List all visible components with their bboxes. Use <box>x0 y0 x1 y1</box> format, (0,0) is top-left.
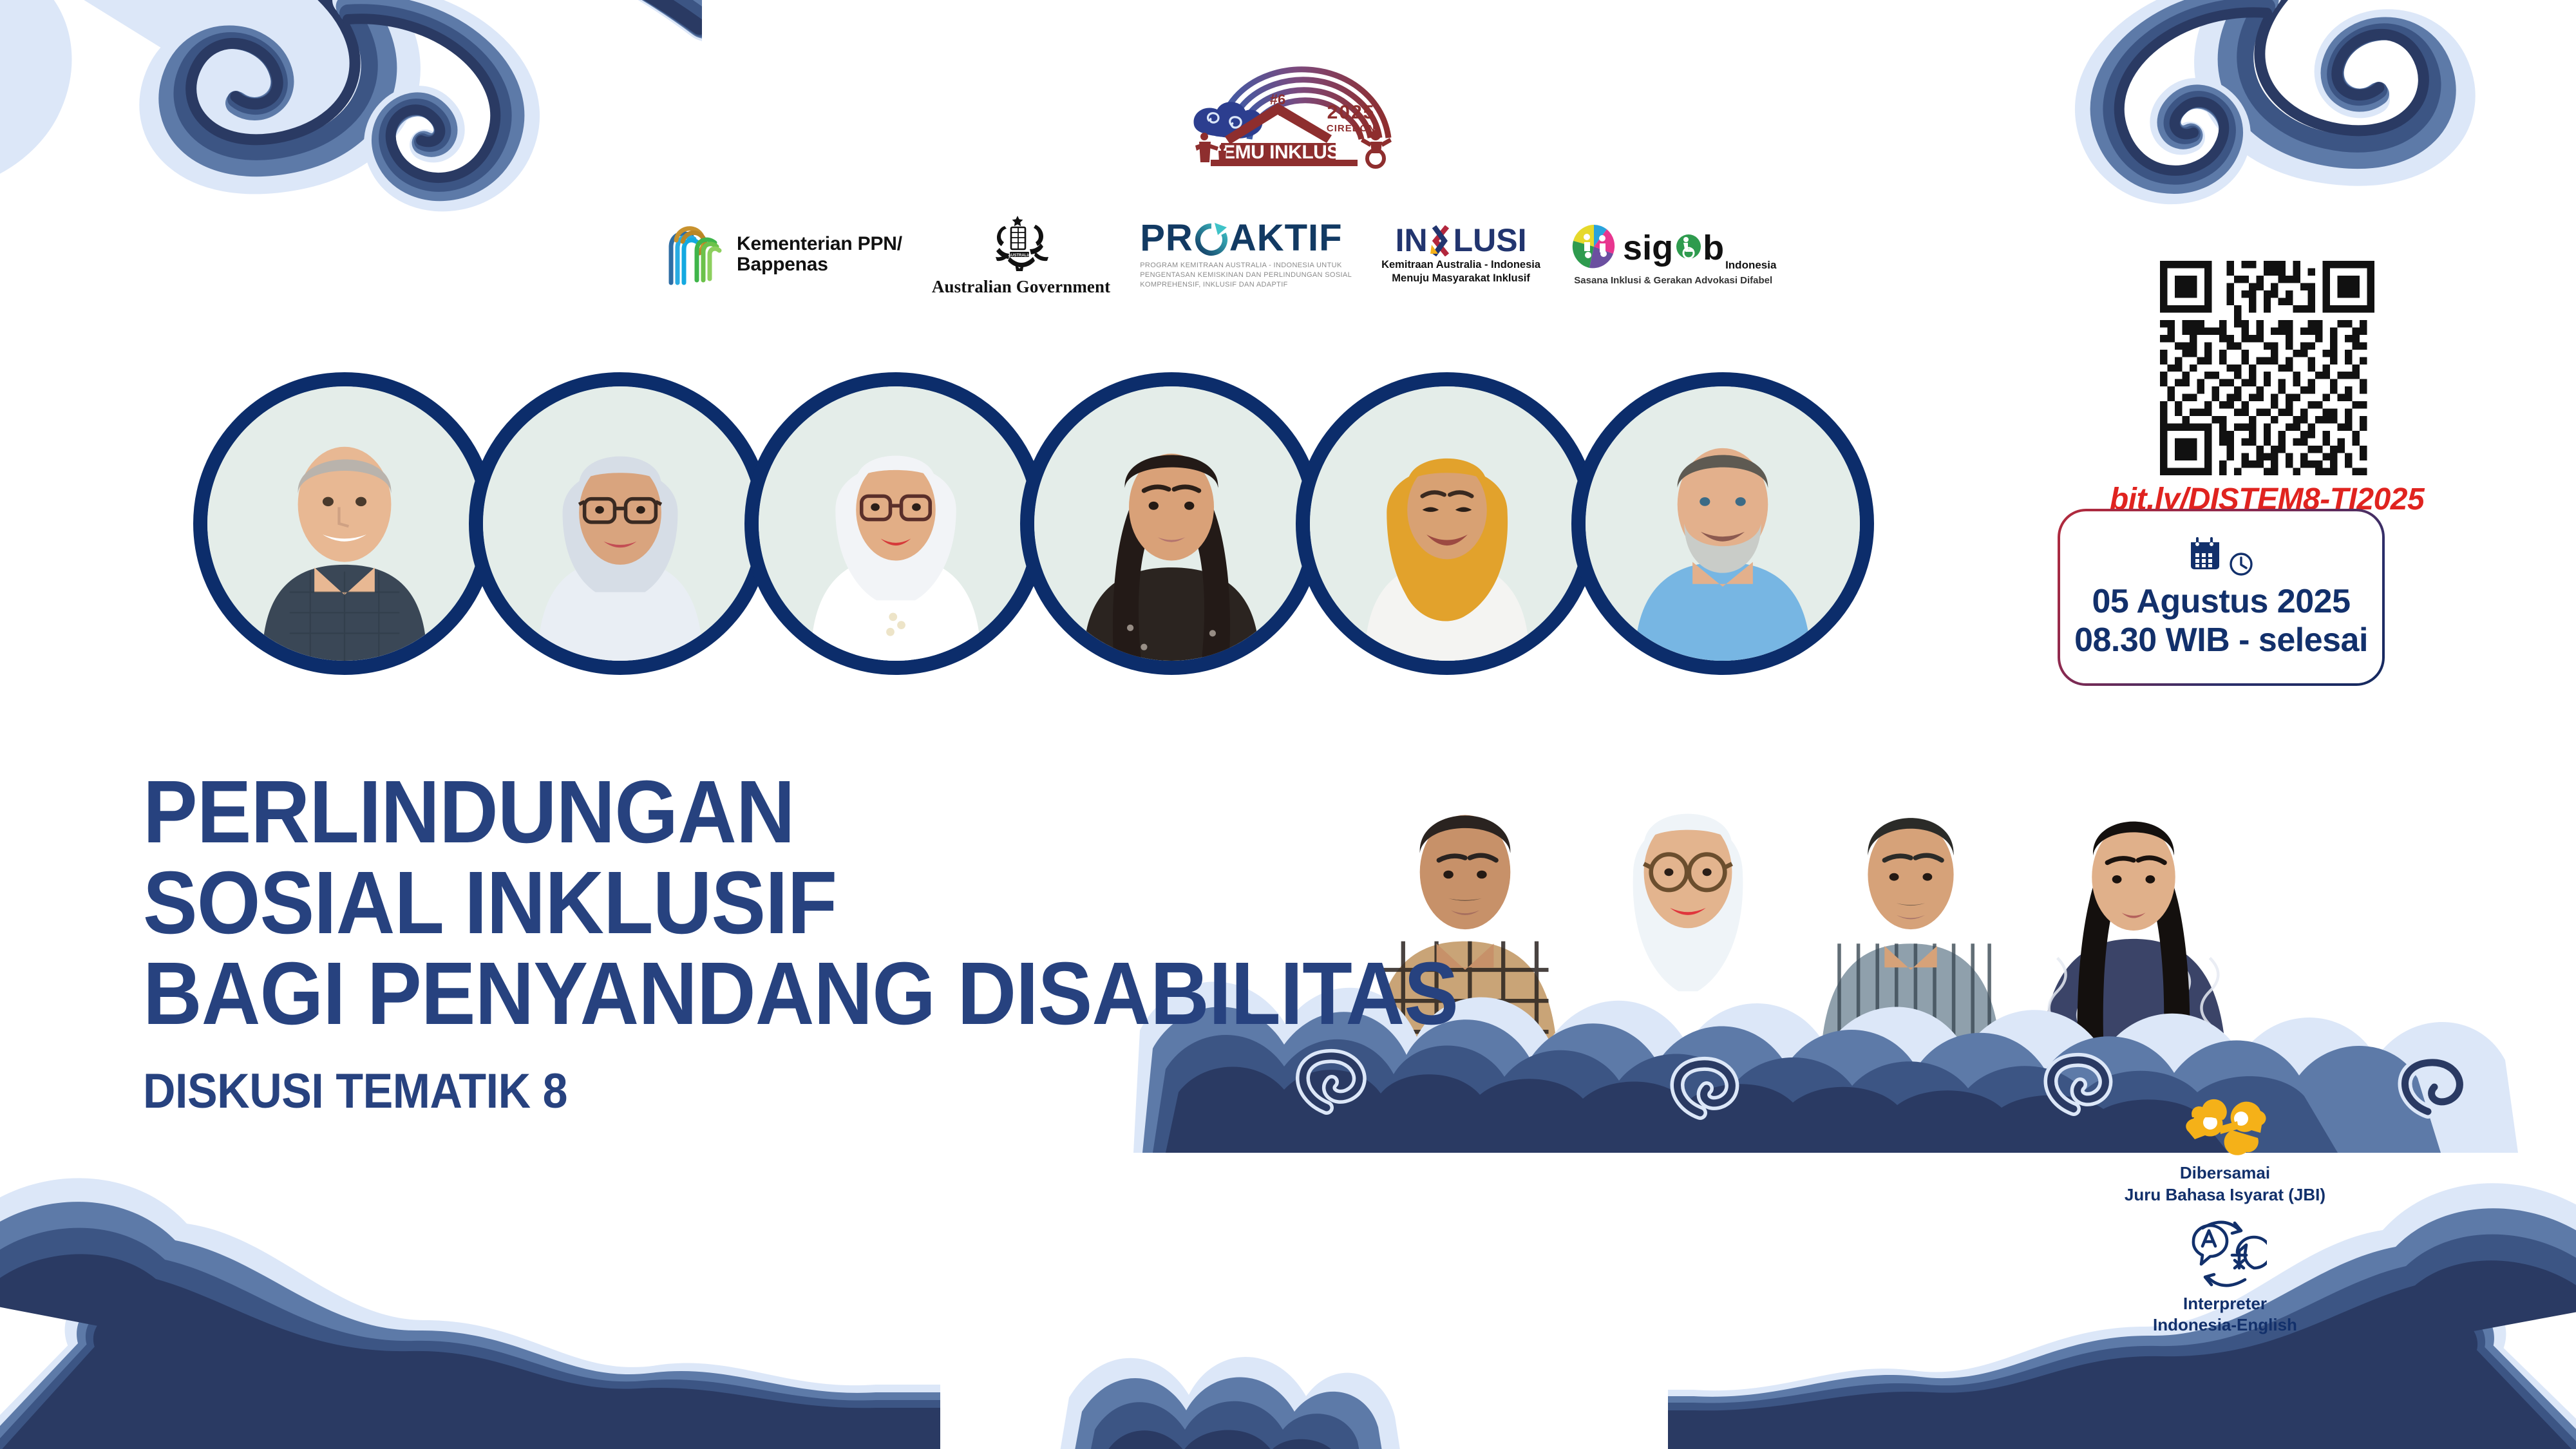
speaker-portrait-6 <box>1571 372 1874 675</box>
partner-logo-australian-government: AUSTRALIA Australian Government <box>932 212 1110 297</box>
partner-logo-sigab: sig b Indonesia Sasana Inklusi & Gerakan… <box>1570 223 1776 286</box>
interpreter-caption: Interpreter Indonesia-English <box>2153 1293 2297 1337</box>
calendar-icon <box>2187 536 2226 578</box>
headline-block: PERLINDUNGAN SOSIAL INKLUSIF BAGI PENYAN… <box>143 772 2011 1119</box>
australian-coat-of-arms-icon: AUSTRALIA <box>985 212 1057 276</box>
temu-inklusi-wordmark: TEMU INKLUSI <box>1211 142 1344 163</box>
inklusi-word-in: IN <box>1396 224 1428 256</box>
speaker-portrait-10 <box>2014 718 2253 1079</box>
speaker-portrait-1 <box>193 372 496 675</box>
schedule-box: 05 Agustus 2025 08.30 WIB - selesai <box>2058 509 2385 686</box>
partner-logo-proaktif: PR AKTIF PROGRAM KEMITRAAN AUSTRALIA - I… <box>1140 219 1352 290</box>
inklusi-word-lusi: LUSI <box>1454 224 1527 256</box>
poster-root: TEMU INKLUSI #6 2025 CIREBON <box>0 0 2576 1449</box>
temu-inklusi-logo: TEMU INKLUSI #6 2025 CIREBON <box>1182 40 1427 182</box>
partner-logo-inklusi: IN LUSI Kemitraan Australia - Indonesia … <box>1381 224 1540 285</box>
proaktif-word-aktif: AKTIF <box>1229 220 1343 257</box>
speaker-portrait-2 <box>469 372 772 675</box>
sigab-wordmark: sig b <box>1623 232 1724 265</box>
accessibility-block: Dibersamai Juru Bahasa Isyarat (JBI) Int… <box>2045 1092 2405 1336</box>
translate-speech-bubbles-icon <box>2183 1213 2267 1293</box>
mega-mendung-wave-bottom-left <box>0 1108 940 1449</box>
inklusi-logomark-icon <box>1428 224 1454 256</box>
speaker-circle-row <box>193 372 1847 675</box>
headline-subtitle: DISKUSI TEMATIK 8 <box>143 1063 1861 1119</box>
proaktif-wordmark: PR AKTIF <box>1140 219 1342 258</box>
sigab-wheelchair-icon <box>1673 232 1703 265</box>
speaker-portrait-4 <box>1020 372 1323 675</box>
partner-logo-bappenas: Kementerian PPN/ Bappenas <box>657 218 902 291</box>
mega-mendung-wave-bottom-center <box>824 1204 1790 1449</box>
qr-block[interactable]: bit.ly/DISTEM8-TI2025 <box>2125 261 2409 517</box>
bappenas-name: Kementerian PPN/ Bappenas <box>737 234 902 276</box>
headline-line-3: BAGI PENYANDANG DISABILITAS <box>143 953 1861 1035</box>
sigab-word-b: b <box>1703 232 1724 265</box>
partner-logo-row: Kementerian PPN/ Bappenas <box>657 206 1868 303</box>
headline-line-1: PERLINDUNGAN <box>143 772 1861 853</box>
proaktif-word-pr: PR <box>1140 220 1193 257</box>
sigab-word-sig: sig <box>1623 232 1673 265</box>
event-time: 08.30 WIB - selesai <box>2074 621 2368 659</box>
sigab-tagline: Sasana Inklusi & Gerakan Advokasi Difabe… <box>1574 275 1772 286</box>
mega-mendung-cloud-top-left <box>0 0 702 374</box>
clock-icon <box>2227 549 2255 578</box>
australian-government-name: Australian Government <box>932 277 1110 297</box>
edition-number: #6 <box>1270 91 1285 108</box>
sign-language-hands-icon <box>2177 1092 2273 1162</box>
jbi-caption: Dibersamai Juru Bahasa Isyarat (JBI) <box>2125 1162 2325 1206</box>
qr-code-icon[interactable] <box>2160 261 2374 475</box>
sigab-indonesia-label: Indonesia <box>1725 260 1776 270</box>
event-year: 2025 <box>1327 102 1376 123</box>
bappenas-logomark-icon <box>657 218 726 291</box>
proaktif-tagline: PROGRAM KEMITRAAN AUSTRALIA - INDONESIA … <box>1140 261 1352 290</box>
proaktif-logomark-icon <box>1193 219 1229 258</box>
event-city: CIREBON <box>1327 123 1376 134</box>
speaker-portrait-3 <box>744 372 1047 675</box>
inklusi-wordmark: IN LUSI <box>1396 224 1527 256</box>
event-date: 05 Agustus 2025 <box>2092 583 2351 620</box>
speaker-portrait-5 <box>1296 372 1598 675</box>
inklusi-tagline: Kemitraan Australia - Indonesia Menuju M… <box>1381 258 1540 285</box>
headline-line-2: SOSIAL INKLUSIF <box>143 862 1861 944</box>
sigab-logomark-icon <box>1570 223 1618 274</box>
svg-text:AUSTRALIA: AUSTRALIA <box>1008 254 1030 258</box>
